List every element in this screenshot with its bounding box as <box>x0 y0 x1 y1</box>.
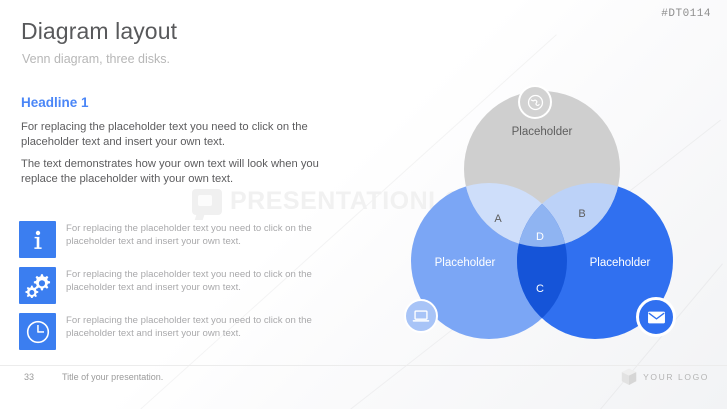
globe-icon <box>518 85 552 119</box>
watermark-logo-icon <box>192 189 222 215</box>
page-title: Diagram layout <box>21 18 177 45</box>
venn-label-B: B <box>578 208 585 220</box>
venn-label-right: Placeholder <box>590 257 651 269</box>
footer-logo: YOUR LOGO <box>621 368 709 386</box>
info-icon <box>19 221 56 258</box>
list-item-label: For replacing the placeholder text you n… <box>66 223 328 248</box>
icon-bullet-list: For replacing the placeholder text you n… <box>19 221 339 359</box>
page-number: 33 <box>24 372 34 382</box>
venn-label-D: D <box>536 231 544 243</box>
clock-icon <box>19 313 56 350</box>
footer-divider <box>0 365 727 366</box>
laptop-icon <box>404 299 438 333</box>
list-item-label: For replacing the placeholder text you n… <box>66 269 328 294</box>
list-item-label: For replacing the placeholder text you n… <box>66 315 328 340</box>
section-headline: Headline 1 <box>21 95 89 110</box>
venn-label-A: A <box>494 213 502 225</box>
gears-icon <box>19 267 56 304</box>
list-item[interactable]: For replacing the placeholder text you n… <box>19 267 339 304</box>
logo-mark-icon <box>621 368 637 386</box>
list-item[interactable]: For replacing the placeholder text you n… <box>19 221 339 258</box>
venn-label-C: C <box>536 283 544 295</box>
page-subtitle: Venn diagram, three disks. <box>22 52 170 66</box>
slide-canvas: #DT0114 Diagram layout Venn diagram, thr… <box>0 0 727 409</box>
venn-label-top: Placeholder <box>512 126 573 138</box>
document-code: #DT0114 <box>661 8 711 20</box>
footer-title: Title of your presentation. <box>62 372 163 382</box>
body-paragraph-1: For replacing the placeholder text you n… <box>21 120 333 150</box>
body-paragraph-2: The text demonstrates how your own text … <box>21 157 333 187</box>
envelope-icon <box>636 297 676 337</box>
venn-label-left: Placeholder <box>435 257 496 269</box>
list-item[interactable]: For replacing the placeholder text you n… <box>19 313 339 350</box>
logo-text: YOUR LOGO <box>643 372 709 382</box>
